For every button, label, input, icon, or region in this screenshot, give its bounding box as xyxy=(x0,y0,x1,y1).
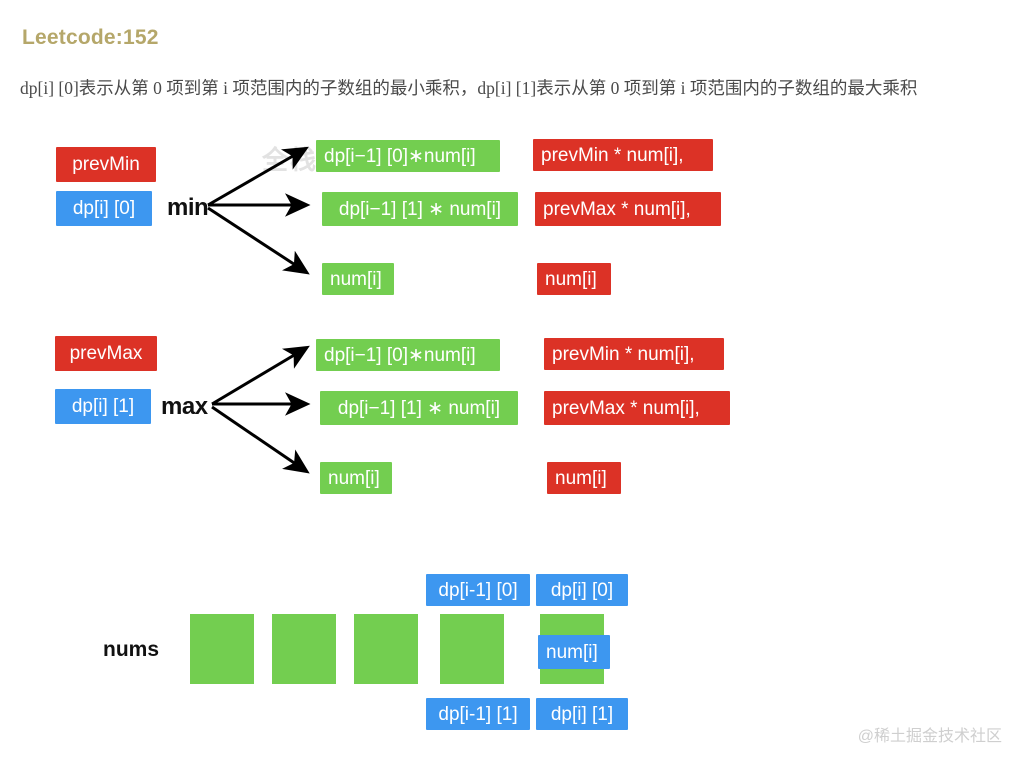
slide-canvas: Leetcode:152 dp[i] [0]表示从第 0 项到第 i 项范围内的… xyxy=(0,0,1024,768)
min-green-box-0: dp[i−1] [0]∗num[i] xyxy=(316,140,500,172)
max-green-box-1: dp[i−1] [1] ∗ num[i] xyxy=(320,391,518,425)
min-red-box-2: num[i] xyxy=(537,263,611,295)
min-left-box-prevmin: prevMin xyxy=(56,147,156,182)
max-arrow-down xyxy=(212,407,306,471)
max-red-box-1: prevMax * num[i], xyxy=(544,391,730,425)
max-red-box-2: num[i] xyxy=(547,462,621,494)
max-green-box-2: num[i] xyxy=(320,462,392,494)
max-arrow-up xyxy=(212,348,306,404)
min-green-box-1: dp[i−1] [1] ∗ num[i] xyxy=(322,192,518,226)
nums-cell-1 xyxy=(272,614,336,684)
description-text: dp[i] [0]表示从第 0 项到第 i 项范围内的子数组的最小乘积，dp[i… xyxy=(20,75,1010,100)
nums-bottom-label-1: dp[i] [1] xyxy=(536,698,628,730)
max-left-box-prevmax: prevMax xyxy=(55,336,157,371)
nums-label: nums xyxy=(103,638,159,662)
max-green-box-0: dp[i−1] [0]∗num[i] xyxy=(316,339,500,371)
min-arrow-down xyxy=(208,208,306,272)
min-operator-label: min xyxy=(167,194,208,222)
nums-cell-0 xyxy=(190,614,254,684)
max-operator-label: max xyxy=(161,393,208,421)
nums-cell-3 xyxy=(440,614,504,684)
min-red-box-1: prevMax * num[i], xyxy=(535,192,721,226)
page-title: Leetcode:152 xyxy=(22,26,159,50)
max-left-box-dpi1: dp[i] [1] xyxy=(55,389,151,424)
corner-watermark: @稀土掘金技术社区 xyxy=(858,722,1002,746)
nums-overlay-label: num[i] xyxy=(538,635,610,669)
min-red-box-0: prevMin * num[i], xyxy=(533,139,713,171)
nums-top-label-1: dp[i] [0] xyxy=(536,574,628,606)
nums-top-label-0: dp[i-1] [0] xyxy=(426,574,530,606)
nums-bottom-label-0: dp[i-1] [1] xyxy=(426,698,530,730)
center-watermark: 全栈 xyxy=(262,140,318,177)
min-left-box-dpi0: dp[i] [0] xyxy=(56,191,152,226)
max-red-box-0: prevMin * num[i], xyxy=(544,338,724,370)
nums-cell-2 xyxy=(354,614,418,684)
min-green-box-2: num[i] xyxy=(322,263,394,295)
max-arrow-group xyxy=(212,348,306,471)
